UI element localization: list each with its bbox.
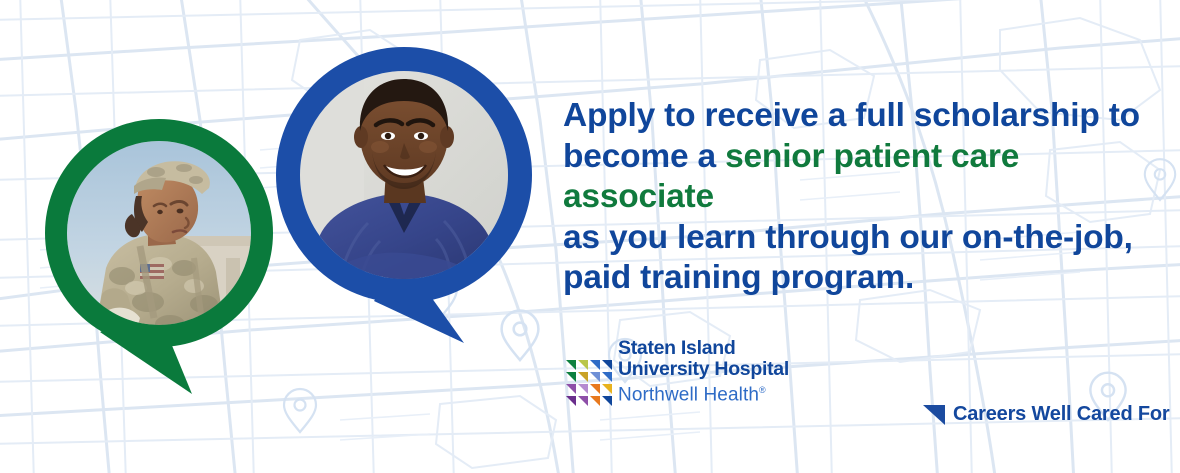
campaign-banner: Apply to receive a full scholarship to b…	[0, 0, 1180, 473]
headline: Apply to receive a full scholarship to b…	[563, 96, 1163, 299]
headline-line-2: become a senior patient care associate	[563, 137, 1163, 218]
headline-line-4: paid training program.	[563, 258, 1163, 299]
registered-mark: ®	[759, 385, 766, 395]
tagline: Careers Well Cared For	[923, 403, 1169, 426]
tagline-text: Careers Well Cared For	[953, 403, 1169, 426]
headline-line-3: as you learn through our on-the-job,	[563, 218, 1163, 259]
logo-line-3-text: Northwell Health	[618, 384, 759, 405]
logo-line-1: Staten Island	[618, 338, 789, 359]
headline-line-1: Apply to receive a full scholarship to	[563, 96, 1163, 137]
logo-line-3: Northwell Health®	[618, 379, 789, 406]
headline-line-2-prefix: become a	[563, 138, 725, 175]
hospital-logo: Staten Island University Hospital Northw…	[566, 338, 789, 407]
logo-line-2: University Hospital	[618, 359, 789, 380]
triangle-mark-icon	[923, 405, 945, 425]
soldier-photo-pin	[44, 118, 274, 406]
northwell-triangles-icon	[566, 359, 612, 407]
logo-text: Staten Island University Hospital Northw…	[618, 338, 789, 407]
nurse-photo-pin	[268, 47, 540, 347]
